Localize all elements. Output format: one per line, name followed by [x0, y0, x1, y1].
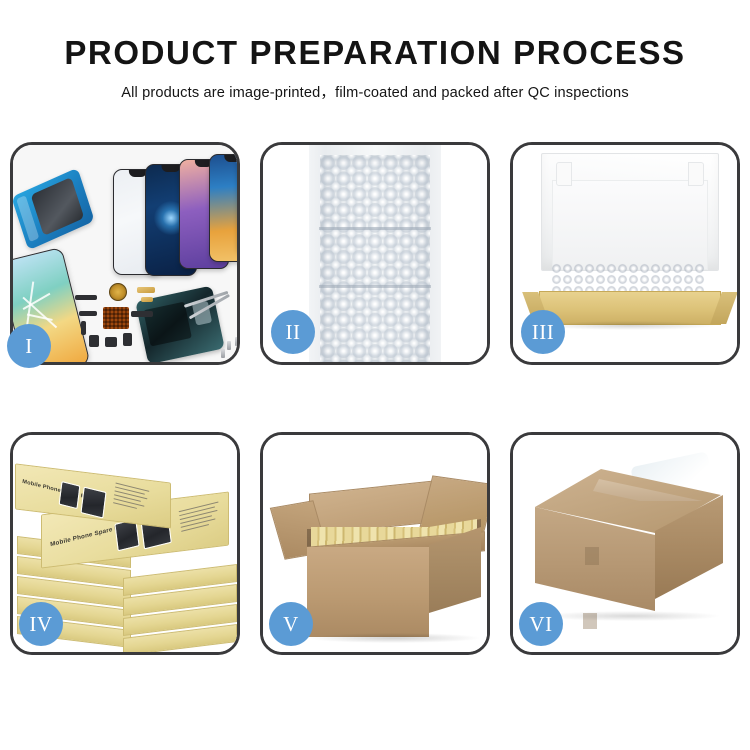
screw-part: [221, 349, 225, 358]
process-step-panel-v: V: [260, 432, 490, 655]
page-subtitle: All products are image-printed，film-coat…: [0, 81, 750, 102]
process-step-panel-i: I: [10, 142, 240, 365]
carton-flap-tab: [585, 547, 599, 565]
carton-shadow: [543, 611, 719, 621]
step-badge-iii: III: [521, 310, 565, 354]
flex-cable-part: [75, 295, 97, 300]
screw-part: [235, 337, 237, 346]
carton-shadow: [309, 633, 479, 643]
connector-part: [141, 297, 153, 302]
carton-front-face: [307, 547, 429, 637]
wrap-seam: [319, 227, 431, 230]
process-step-grid: I II III: [10, 142, 740, 655]
flex-cable-part: [81, 321, 86, 335]
lid-tab-left: [556, 162, 572, 186]
mailer-box-front-kraft: [539, 291, 721, 325]
bubble-wrap-bubbles: [320, 155, 430, 362]
camera-module-part: [89, 335, 99, 347]
lid-tab-right: [688, 162, 704, 186]
step-badge-v: V: [269, 602, 313, 646]
battery-connector-part: [123, 333, 132, 346]
process-step-panel-iv: Mobile Phone Spare Parts Mobile Phone Sp…: [10, 432, 240, 655]
step-badge-i: I: [7, 324, 51, 368]
connector-part: [137, 287, 155, 293]
ic-chip-part: [103, 307, 129, 329]
box-product-image: [59, 481, 81, 509]
process-step-panel-ii: II: [260, 142, 490, 365]
page-header: PRODUCT PREPARATION PROCESS All products…: [0, 0, 750, 102]
speaker-part: [105, 337, 117, 347]
step-i-image: [13, 145, 237, 362]
process-step-panel-iii: III: [510, 142, 740, 365]
mailer-box-lid: [541, 153, 719, 271]
page-title: PRODUCT PREPARATION PROCESS: [0, 36, 750, 71]
step-badge-ii: II: [271, 310, 315, 354]
process-step-panel-vi: VI: [510, 432, 740, 655]
flex-cable-part: [131, 311, 153, 317]
phone-orange-wallpaper: [209, 154, 237, 262]
flex-cable-part: [79, 311, 97, 316]
bubble-wrapped-contents: [551, 263, 705, 293]
phone-notch: [162, 165, 181, 172]
wrap-seam: [319, 285, 431, 288]
box-shadow: [543, 321, 715, 330]
box-product-image: [80, 487, 106, 519]
step-badge-iv: IV: [19, 602, 63, 646]
screw-part: [227, 341, 231, 350]
phone-notch: [224, 155, 237, 162]
crack-line: [27, 314, 52, 321]
step-badge-vi: VI: [519, 602, 563, 646]
vibration-motor-part: [109, 283, 127, 301]
